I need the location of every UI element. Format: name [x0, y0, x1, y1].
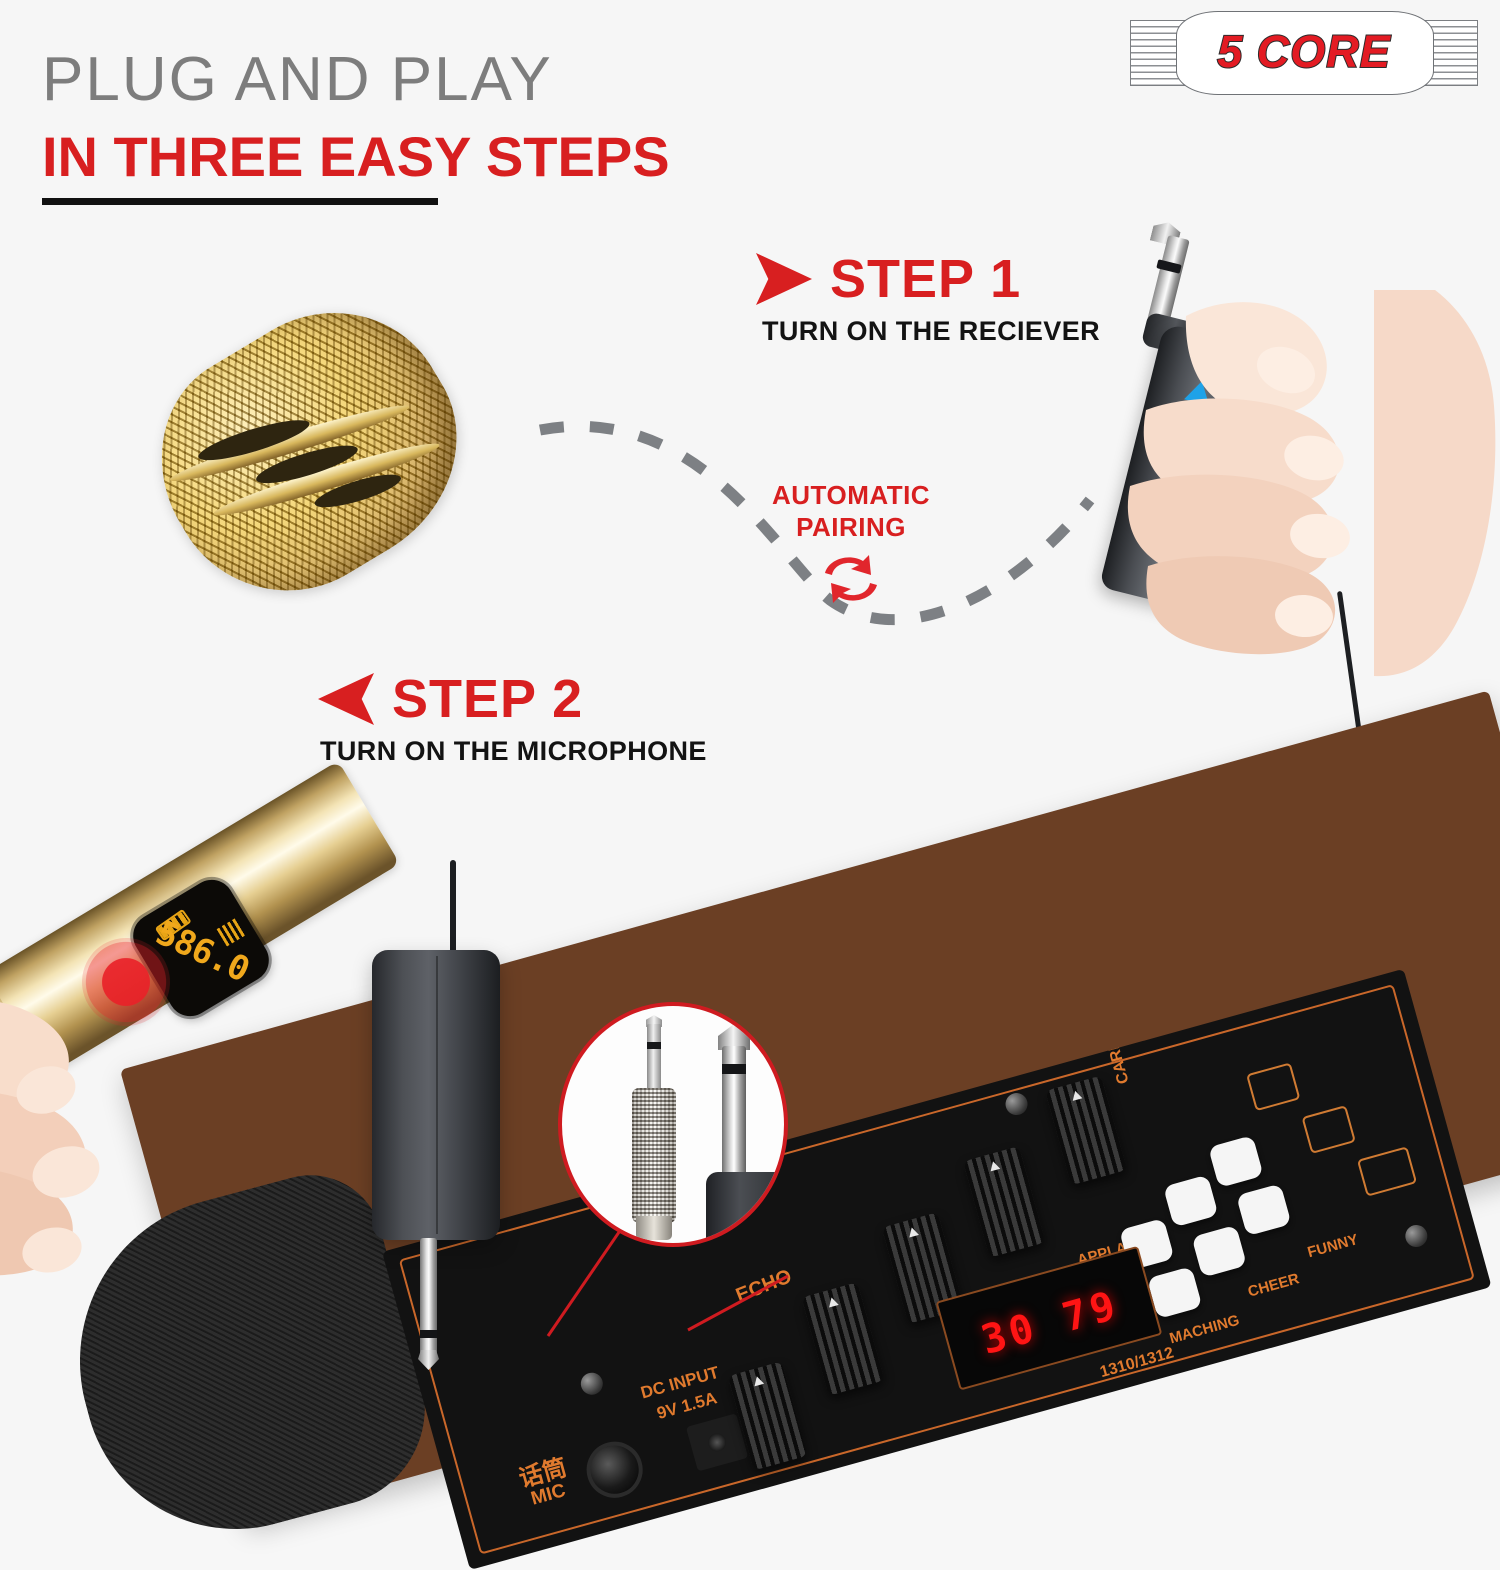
speaker-body: 话筒 MIC DC INPUT 9V 1.5A LED ECHO CARD AP… [150, 1070, 1500, 1510]
receiver-illustration [1060, 230, 1500, 660]
speaker-illustration: 话筒 MIC DC INPUT 9V 1.5A LED ECHO CARD AP… [150, 1010, 1500, 1510]
adapter-pin [647, 1024, 661, 1092]
quarter-inch-plug-ring [722, 1064, 746, 1074]
sync-arrows-icon [819, 551, 883, 607]
logo-text: 5 CORE [1130, 26, 1478, 78]
step-1-heading: STEP 1 [756, 248, 1100, 310]
page-title-line1: PLUG AND PLAY [42, 44, 553, 115]
infographic-canvas: PLUG AND PLAY IN THREE EASY STEPS 5 CORE… [0, 0, 1500, 1500]
quarter-inch-plug-barrel [706, 1172, 788, 1247]
adapter-pin-ring [647, 1042, 661, 1049]
adapter-knurled-barrel [632, 1088, 676, 1223]
receiver-output-jack [420, 1238, 437, 1356]
receiver-module-seam [436, 956, 438, 1234]
brand-logo: 5 CORE [1130, 20, 1478, 86]
title-underline [42, 198, 438, 205]
microphone-illustration: 586.0 [0, 300, 580, 1000]
step-1-description: TURN ON THE RECIEVER [762, 316, 1100, 347]
receiver-output-jack-ring [420, 1330, 437, 1338]
page-title-line2: IN THREE EASY STEPS [42, 124, 670, 189]
pairing-line1: AUTOMATIC [772, 480, 930, 512]
step-1-block: STEP 1 TURN ON THE RECIEVER [756, 248, 1100, 347]
automatic-pairing-callout: AUTOMATIC PAIRING [772, 480, 930, 612]
hand-holding-receiver [1090, 290, 1500, 680]
receiver-cable-top [450, 860, 456, 960]
step-1-label: STEP 1 [830, 248, 1021, 310]
adapter-base [636, 1216, 672, 1240]
pairing-line2: PAIRING [772, 512, 930, 544]
microphone-grille-head [119, 269, 500, 634]
adapter-zoom-callout [558, 1002, 788, 1247]
arrow-right-icon [756, 253, 812, 305]
